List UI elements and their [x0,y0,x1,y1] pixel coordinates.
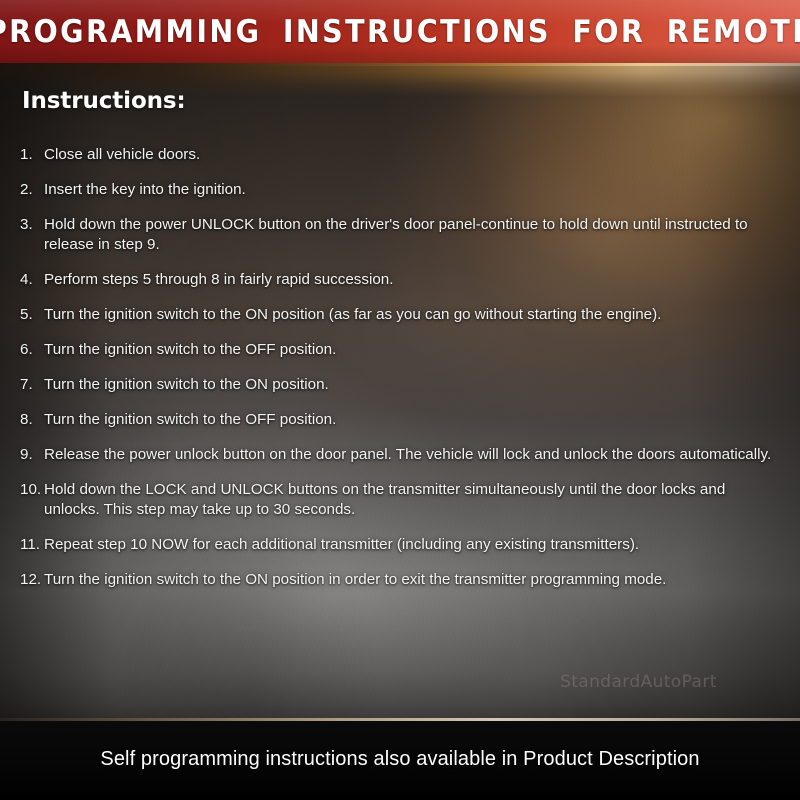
programming-instructions-page: PROGRAMMING INSTRUCTIONS FOR REMOTE Inst… [0,0,800,800]
instruction-step: 1.Close all vehicle doors. [20,145,782,165]
step-text: Turn the ignition switch to the OFF posi… [44,410,782,430]
watermark: StandardAutoPart [560,672,717,692]
instruction-step: 3.Hold down the power UNLOCK button on t… [20,215,782,255]
instruction-step: 7.Turn the ignition switch to the ON pos… [20,375,782,395]
step-number: 4. [20,270,44,290]
step-number: 2. [20,180,44,200]
footer-top-edge-line [0,718,800,721]
step-text: Turn the ignition switch to the ON posit… [44,570,782,590]
page-title: PROGRAMMING INSTRUCTIONS FOR REMOTE [32,0,768,63]
step-text: Hold down the LOCK and UNLOCK buttons on… [44,480,782,520]
step-text: Turn the ignition switch to the ON posit… [44,375,782,395]
instruction-step: 6.Turn the ignition switch to the OFF po… [20,340,782,360]
step-number: 5. [20,305,44,325]
instruction-step-list: 1.Close all vehicle doors.2.Insert the k… [20,145,782,605]
footer-note: Self programming instructions also avail… [100,748,699,771]
step-text: Insert the key into the ignition. [44,180,782,200]
step-number: 3. [20,215,44,235]
footer-banner: Self programming instructions also avail… [0,718,800,800]
step-text: Turn the ignition switch to the ON posit… [44,305,782,325]
instruction-step: 9.Release the power unlock button on the… [20,445,782,465]
step-text: Close all vehicle doors. [44,145,782,165]
instruction-step: 12.Turn the ignition switch to the ON po… [20,570,782,590]
instruction-step: 8.Turn the ignition switch to the OFF po… [20,410,782,430]
instruction-step: 10.Hold down the LOCK and UNLOCK buttons… [20,480,782,520]
step-text: Release the power unlock button on the d… [44,445,782,465]
instructions-heading: Instructions: [22,88,186,114]
instructions-body: Instructions: 1.Close all vehicle doors.… [0,63,800,718]
instruction-step: 2.Insert the key into the ignition. [20,180,782,200]
step-number: 8. [20,410,44,430]
step-text: Hold down the power UNLOCK button on the… [44,215,782,255]
step-text: Repeat step 10 NOW for each additional t… [44,535,782,555]
instruction-step: 4.Perform steps 5 through 8 in fairly ra… [20,270,782,290]
step-number: 1. [20,145,44,165]
header-banner: PROGRAMMING INSTRUCTIONS FOR REMOTE [0,0,800,63]
step-number: 7. [20,375,44,395]
step-number: 12. [20,570,44,590]
step-number: 10. [20,480,44,500]
step-text: Turn the ignition switch to the OFF posi… [44,340,782,360]
step-number: 11. [20,535,44,555]
instruction-step: 5.Turn the ignition switch to the ON pos… [20,305,782,325]
step-number: 6. [20,340,44,360]
step-number: 9. [20,445,44,465]
instruction-step: 11.Repeat step 10 NOW for each additiona… [20,535,782,555]
step-text: Perform steps 5 through 8 in fairly rapi… [44,270,782,290]
